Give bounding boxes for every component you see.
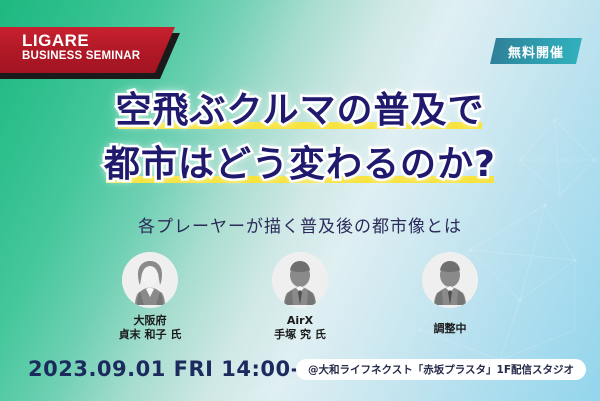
event-venue: @大和ライフネクスト「赤坂プラスタ」1F配信スタジオ: [296, 359, 586, 380]
free-event-badge-label: 無料開催: [508, 42, 564, 61]
person-female-icon: [122, 252, 178, 308]
free-event-badge: 無料開催: [490, 38, 582, 64]
headline-line-1: 空飛ぶクルマの普及で: [110, 88, 491, 134]
speaker-item: 調整中: [400, 252, 500, 342]
speaker-item: 大阪府 貞末 和子 氏: [100, 252, 200, 342]
ribbon-body: LIGARE BUSINESS SEMINAR: [0, 27, 175, 73]
speaker-item: AirX 手塚 究 氏: [250, 252, 350, 342]
speaker-org: 大阪府: [100, 314, 200, 328]
headline-row-1: 空飛ぶクルマの普及で: [110, 88, 491, 134]
person-male-icon: [422, 252, 478, 308]
brand-ribbon: LIGARE BUSINESS SEMINAR: [0, 27, 200, 77]
person-male-icon: [272, 252, 328, 308]
brand-title: LIGARE: [22, 31, 175, 50]
speaker-name: 手塚 究 氏: [250, 328, 350, 342]
speaker-name: 調整中: [400, 322, 500, 336]
brand-subtitle: BUSINESS SEMINAR: [22, 50, 175, 63]
headline-row-2: 都市はどう変わるのか?: [98, 142, 502, 188]
subtitle: 各プレーヤーが描く普及後の都市像とは: [0, 212, 600, 237]
headline: 空飛ぶクルマの普及で 都市はどう変わるのか?: [0, 88, 600, 188]
speaker-list: 大阪府 貞末 和子 氏 AirX 手塚 究 氏: [0, 252, 600, 342]
speaker-name: 貞末 和子 氏: [100, 328, 200, 342]
headline-line-2: 都市はどう変わるのか?: [98, 142, 502, 188]
seminar-poster: LIGARE BUSINESS SEMINAR 無料開催 空飛ぶクルマの普及で …: [0, 0, 600, 401]
speaker-org: AirX: [250, 314, 350, 328]
